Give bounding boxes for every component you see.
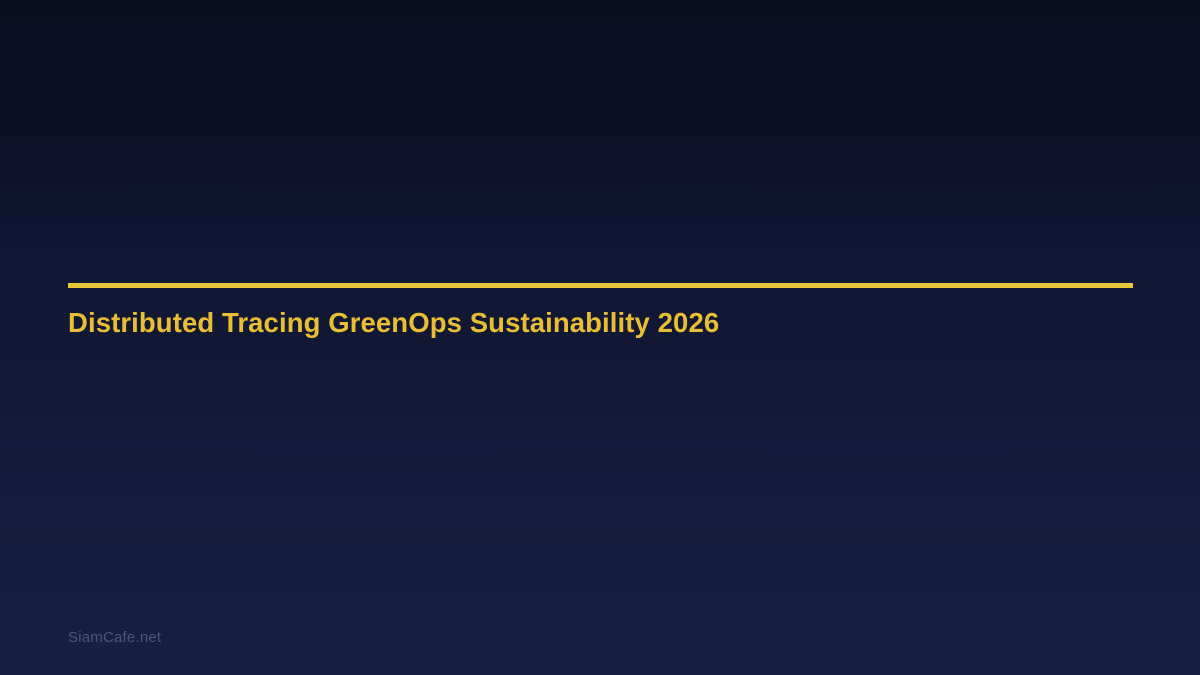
page-title: Distributed Tracing GreenOps Sustainabil…: [68, 306, 1133, 339]
title-block: Distributed Tracing GreenOps Sustainabil…: [68, 283, 1133, 339]
footer-brand-label: SiamCafe.net: [68, 629, 161, 646]
title-accent-rule: [68, 283, 1133, 288]
presentation-slide: Distributed Tracing GreenOps Sustainabil…: [0, 0, 1200, 675]
slide-footer: SiamCafe.net: [68, 629, 161, 646]
